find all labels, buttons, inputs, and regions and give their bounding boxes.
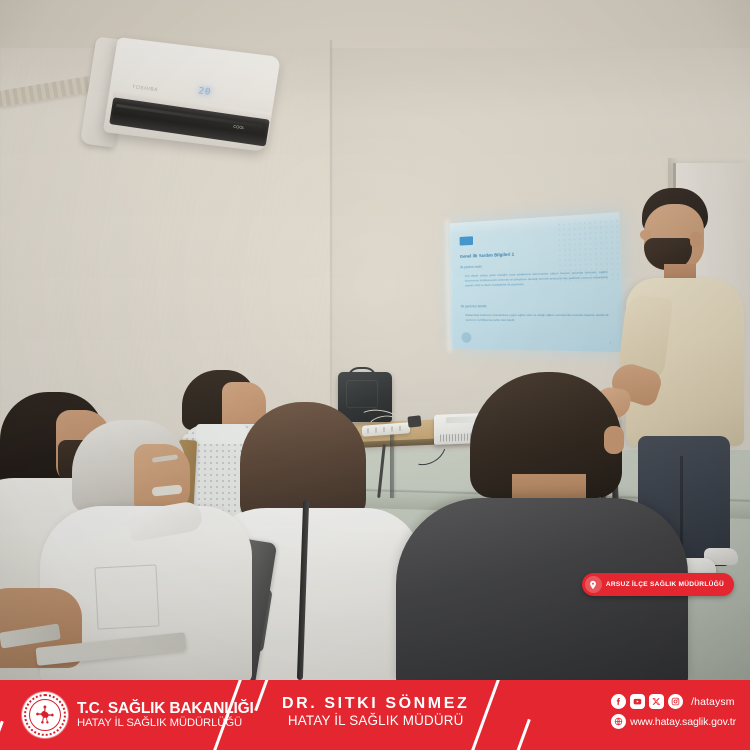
slide-subheading-2: İlk yardımcı kimdir; xyxy=(461,304,487,308)
director-name: DR. SITKI SÖNMEZ xyxy=(282,694,469,713)
slide-logo-block xyxy=(460,236,474,245)
slide-paragraph-1: Acil olarak ortaya çıkan hastalık veya y… xyxy=(465,270,608,288)
slide-footer-logo xyxy=(461,332,471,343)
ministry-subname: HATAY İL SAĞLIK MÜDÜRLÜĞÜ xyxy=(77,717,254,730)
screenshot-root: TOSHIBA 20 COOL Genel İlk Yardım Bilgile… xyxy=(0,0,750,750)
ministry-text: T.C. SAĞLIK BAKANLIĞI HATAY İL SAĞLIK MÜ… xyxy=(77,700,254,730)
footer-banner: T.C. SAĞLIK BAKANLIĞI HATAY İL SAĞLIK MÜ… xyxy=(0,680,750,750)
map-pin-icon xyxy=(585,576,602,593)
youtube-icon[interactable] xyxy=(630,694,645,709)
air-conditioner: TOSHIBA 20 COOL xyxy=(79,35,279,176)
attendee-elder-pocket xyxy=(94,564,159,629)
ministry-branding: T.C. SAĞLIK BAKANLIĞI HATAY İL SAĞLIK MÜ… xyxy=(22,692,254,738)
slide-subheading-1: İlk yardım nedir; xyxy=(460,265,482,270)
location-badge-label: ARSUZ İLÇE SAĞLIK MÜDÜRLÜĞÜ xyxy=(606,581,724,588)
slide-page-number: 1 xyxy=(609,340,611,344)
facebook-icon[interactable] xyxy=(611,694,626,709)
attendee-front-ear xyxy=(604,426,624,454)
instagram-icon[interactable] xyxy=(668,694,683,709)
location-badge: ARSUZ İLÇE SAĞLIK MÜDÜRLÜĞÜ xyxy=(582,573,734,596)
social-handle[interactable]: /hataysm xyxy=(691,696,734,708)
website-url[interactable]: www.hatay.saglik.gov.tr xyxy=(630,716,736,728)
projected-slide: Genel İlk Yardım Bilgileri 1 İlk yardım … xyxy=(450,212,623,352)
footer-slash xyxy=(0,721,4,750)
ac-temperature-display: 20 xyxy=(198,86,212,97)
slide-paragraph-2: Bakanlıkça belirlenen standartlara uygun… xyxy=(465,313,608,323)
website-row: www.hatay.saglik.gov.tr xyxy=(611,714,736,729)
slide-surface: Genel İlk Yardım Bilgileri 1 İlk yardım … xyxy=(450,212,623,352)
attendee-back-row-collar xyxy=(196,424,248,444)
globe-icon xyxy=(611,714,626,729)
tc-saglik-bakanligi-emblem-icon xyxy=(22,692,68,738)
footer-slash xyxy=(254,680,273,711)
x-twitter-icon[interactable] xyxy=(649,694,664,709)
ministry-name: T.C. SAĞLIK BAKANLIĞI xyxy=(77,700,254,717)
presenter-ear xyxy=(690,232,702,248)
social-block: /hataysm www.hatay.saglik.gov.tr xyxy=(611,694,736,729)
footer-slash xyxy=(512,719,531,750)
photo-area: TOSHIBA 20 COOL Genel İlk Yardım Bilgile… xyxy=(0,0,750,680)
social-icons-row: /hataysm xyxy=(611,694,736,709)
director-block: DR. SITKI SÖNMEZ HATAY İL SAĞLIK MÜDÜRÜ xyxy=(282,694,469,730)
slide-heading: Genel İlk Yardım Bilgileri 1 xyxy=(460,252,514,259)
director-title: HATAY İL SAĞLIK MÜDÜRÜ xyxy=(288,713,464,730)
table-leg xyxy=(390,432,394,498)
power-plug xyxy=(407,415,421,427)
